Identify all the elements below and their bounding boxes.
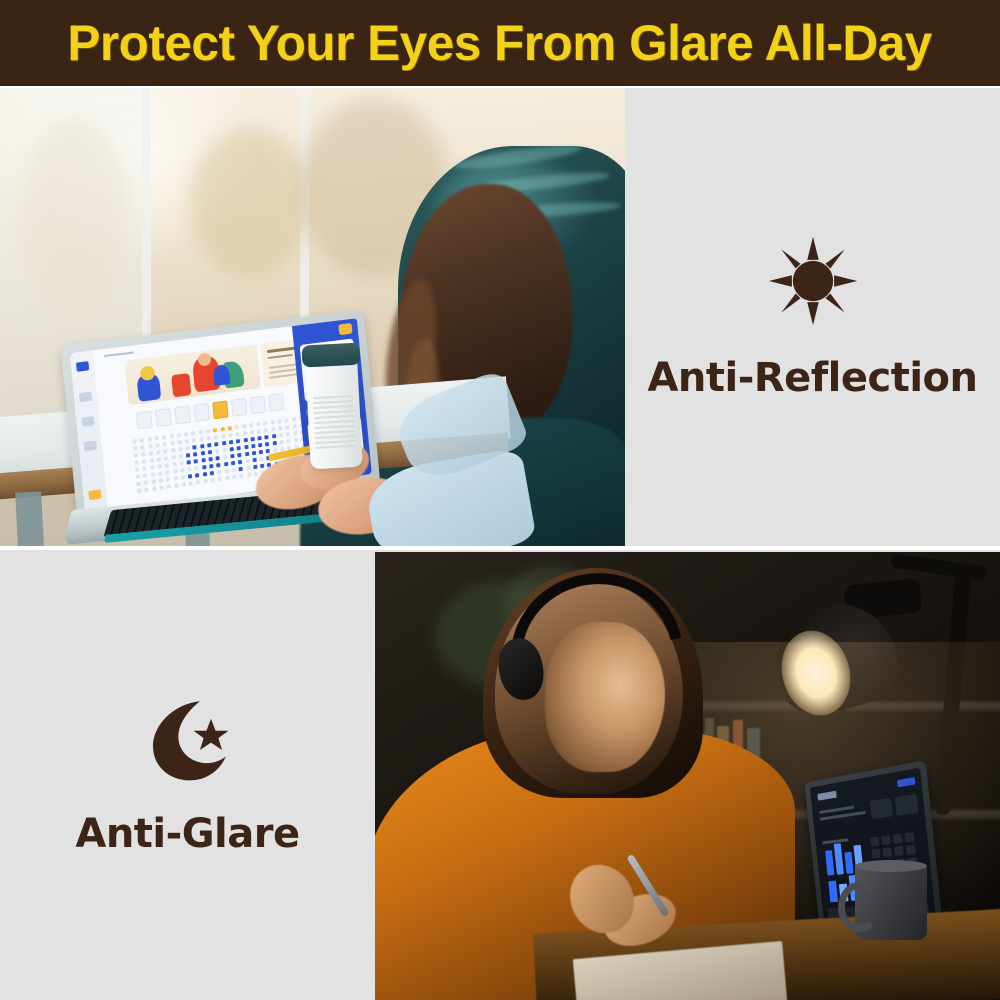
seat bbox=[245, 452, 249, 457]
blurred-foliage bbox=[20, 118, 130, 318]
showtime-chip bbox=[155, 408, 172, 427]
seat bbox=[214, 435, 218, 440]
seat bbox=[163, 449, 167, 454]
dashboard-stat bbox=[895, 794, 919, 816]
seat bbox=[242, 424, 246, 429]
seat bbox=[134, 460, 138, 465]
seat bbox=[192, 438, 196, 443]
seat bbox=[181, 482, 185, 487]
travel-tumbler bbox=[305, 359, 363, 470]
seat bbox=[207, 443, 211, 448]
seat bbox=[149, 458, 153, 463]
seat bbox=[150, 465, 154, 470]
sidebar-icon bbox=[84, 440, 97, 451]
seat bbox=[188, 474, 192, 479]
seat bbox=[142, 466, 146, 471]
seat bbox=[250, 437, 254, 442]
tumbler-texture bbox=[313, 393, 356, 449]
seat bbox=[185, 446, 189, 451]
seat bbox=[222, 441, 226, 446]
seat bbox=[180, 468, 184, 473]
seat bbox=[174, 483, 178, 488]
seat bbox=[157, 457, 161, 462]
hero-illustration bbox=[125, 344, 261, 405]
showtime-chip bbox=[250, 395, 266, 414]
seat bbox=[246, 466, 250, 471]
seat bbox=[209, 464, 213, 469]
seat bbox=[228, 433, 232, 438]
seat bbox=[231, 468, 235, 473]
seat bbox=[220, 427, 224, 432]
seat bbox=[213, 428, 217, 433]
grid-cell bbox=[883, 847, 893, 857]
anti-glare-row: Anti-Glare bbox=[0, 550, 1000, 1000]
seat bbox=[252, 458, 256, 463]
seat bbox=[287, 439, 291, 443]
header-banner: Protect Your Eyes From Glare All-Day bbox=[0, 0, 1000, 86]
seat bbox=[208, 457, 212, 462]
showtime-chip bbox=[136, 410, 153, 429]
seat bbox=[132, 439, 136, 444]
seat bbox=[201, 458, 205, 463]
seat bbox=[229, 447, 233, 452]
seat bbox=[200, 444, 204, 449]
seat bbox=[170, 441, 174, 446]
seat bbox=[254, 472, 258, 477]
seat bbox=[151, 472, 155, 477]
seat bbox=[227, 426, 231, 431]
anti-reflection-row: Anti-Reflection bbox=[0, 88, 1000, 546]
seat bbox=[279, 440, 283, 444]
anti-reflection-panel: Anti-Reflection bbox=[625, 88, 1000, 546]
seat bbox=[279, 433, 283, 437]
chart-bar bbox=[825, 850, 834, 876]
seat bbox=[232, 475, 236, 480]
seat bbox=[224, 462, 228, 467]
seat bbox=[237, 453, 241, 458]
seat bbox=[210, 478, 214, 483]
seat bbox=[216, 456, 220, 461]
seat bbox=[172, 462, 176, 467]
seat bbox=[164, 456, 168, 461]
seat bbox=[191, 431, 195, 436]
seat bbox=[271, 427, 275, 431]
seat bbox=[181, 475, 185, 480]
mug-handle bbox=[838, 882, 880, 932]
seat bbox=[245, 459, 249, 464]
sidebar-icon bbox=[76, 361, 89, 372]
seat bbox=[137, 489, 141, 494]
seat bbox=[166, 477, 170, 482]
anti-reflection-label: Anti-Reflection bbox=[647, 355, 977, 401]
seat bbox=[203, 479, 207, 484]
seat bbox=[243, 438, 247, 443]
chart-bar bbox=[844, 852, 853, 874]
seat bbox=[247, 473, 251, 478]
showtime-chip bbox=[268, 393, 284, 412]
seat bbox=[214, 442, 218, 447]
seat bbox=[144, 487, 148, 492]
seat bbox=[165, 470, 169, 475]
seat bbox=[189, 481, 193, 486]
banner-title: Protect Your Eyes From Glare All-Day bbox=[68, 18, 932, 68]
seat bbox=[236, 439, 240, 444]
seat bbox=[196, 480, 200, 485]
seat bbox=[256, 422, 260, 426]
seat bbox=[178, 447, 182, 452]
seat bbox=[140, 445, 144, 450]
showtime-chip bbox=[193, 403, 210, 422]
seat bbox=[223, 455, 227, 460]
seat bbox=[235, 425, 239, 430]
sun-icon bbox=[765, 233, 861, 329]
sidebar-icon bbox=[79, 392, 92, 403]
seat bbox=[136, 474, 140, 479]
showtime-chip-selected bbox=[212, 400, 228, 419]
seat bbox=[272, 434, 276, 438]
showtime-chip bbox=[231, 398, 247, 417]
seat bbox=[162, 435, 166, 440]
seat bbox=[216, 463, 220, 468]
blurred-foliage bbox=[190, 128, 310, 278]
seat bbox=[169, 434, 173, 439]
seat bbox=[263, 421, 267, 425]
seat bbox=[229, 440, 233, 445]
seat bbox=[264, 428, 268, 432]
seat bbox=[143, 473, 147, 478]
seat bbox=[259, 450, 263, 455]
card-title-line bbox=[268, 354, 293, 359]
seat bbox=[265, 442, 269, 447]
seat bbox=[140, 438, 144, 443]
seat bbox=[270, 420, 274, 424]
seat bbox=[136, 481, 140, 486]
seat bbox=[253, 465, 257, 470]
seat bbox=[156, 450, 160, 455]
seat bbox=[142, 459, 146, 464]
seat bbox=[199, 437, 203, 442]
dashboard-logo bbox=[817, 791, 836, 801]
seat bbox=[148, 451, 152, 456]
seat bbox=[231, 461, 235, 466]
seat bbox=[221, 434, 225, 439]
seat bbox=[239, 467, 243, 472]
seat bbox=[184, 432, 188, 437]
seat bbox=[225, 476, 229, 481]
seat bbox=[202, 465, 206, 470]
seat bbox=[294, 438, 298, 442]
seat bbox=[194, 459, 198, 464]
coffee-mug bbox=[855, 864, 927, 940]
dashboard-badge bbox=[897, 777, 916, 787]
seat bbox=[187, 467, 191, 472]
seat bbox=[185, 439, 189, 444]
dashboard-stat bbox=[870, 798, 893, 819]
seat bbox=[195, 473, 199, 478]
seat bbox=[235, 432, 239, 437]
seat bbox=[135, 467, 139, 472]
tumbler-lid bbox=[301, 343, 360, 368]
seat bbox=[206, 436, 210, 441]
seat bbox=[157, 464, 161, 469]
seat bbox=[258, 443, 262, 448]
seat bbox=[260, 464, 264, 469]
seat bbox=[163, 442, 167, 447]
grid-cell bbox=[893, 834, 903, 844]
seat bbox=[293, 431, 297, 435]
seat bbox=[210, 471, 214, 476]
sidebar-icon bbox=[88, 489, 101, 500]
night-photo bbox=[375, 552, 1000, 1000]
showtime-chip bbox=[174, 405, 191, 424]
seat bbox=[201, 451, 205, 456]
seat bbox=[195, 466, 199, 471]
seat bbox=[239, 474, 243, 479]
seat bbox=[187, 460, 191, 465]
product-feature-image: Protect Your Eyes From Glare All-Day bbox=[0, 0, 1000, 1000]
seat bbox=[244, 445, 248, 450]
daylight-photo bbox=[0, 88, 625, 546]
seat bbox=[134, 453, 138, 458]
seat bbox=[159, 485, 163, 490]
seat bbox=[237, 446, 241, 451]
seat bbox=[165, 463, 169, 468]
grid-cell bbox=[870, 837, 879, 847]
seat bbox=[159, 478, 163, 483]
seat bbox=[285, 425, 289, 429]
seat bbox=[265, 435, 269, 439]
seat bbox=[250, 430, 254, 435]
seat bbox=[285, 418, 289, 422]
seat bbox=[277, 419, 281, 423]
seat bbox=[179, 461, 183, 466]
sidebar-icon bbox=[81, 416, 94, 427]
seat bbox=[272, 441, 276, 445]
chart-bar bbox=[828, 881, 838, 903]
anti-glare-label: Anti-Glare bbox=[75, 811, 299, 857]
seat bbox=[266, 449, 270, 454]
seat bbox=[278, 426, 282, 430]
chart-bar bbox=[834, 843, 844, 875]
seat bbox=[257, 429, 261, 434]
grid-cell bbox=[871, 849, 880, 859]
seat bbox=[133, 446, 137, 451]
seat bbox=[259, 457, 263, 462]
seat bbox=[151, 479, 155, 484]
seat bbox=[224, 469, 228, 474]
seat bbox=[251, 444, 255, 449]
seat bbox=[141, 452, 145, 457]
mug-rim bbox=[855, 860, 927, 872]
seat bbox=[171, 448, 175, 453]
seat bbox=[177, 433, 181, 438]
seat bbox=[218, 477, 222, 482]
seat bbox=[144, 480, 148, 485]
seat bbox=[173, 476, 177, 481]
seat bbox=[155, 436, 159, 441]
grid-cell bbox=[906, 845, 916, 855]
seat bbox=[167, 484, 171, 489]
seat bbox=[158, 471, 162, 476]
moon-star-icon bbox=[142, 693, 234, 785]
seat bbox=[173, 469, 177, 474]
seat bbox=[193, 445, 197, 450]
seat bbox=[198, 430, 202, 435]
panel-badge bbox=[338, 323, 352, 335]
seat bbox=[206, 429, 210, 434]
seat bbox=[148, 444, 152, 449]
seat bbox=[171, 455, 175, 460]
grid-cell bbox=[881, 835, 891, 845]
seat bbox=[292, 417, 296, 421]
seat bbox=[193, 452, 197, 457]
seat bbox=[215, 449, 219, 454]
breadcrumb-line bbox=[103, 351, 134, 357]
seat bbox=[208, 450, 212, 455]
grid-cell bbox=[904, 832, 914, 842]
seat bbox=[238, 460, 242, 465]
seat bbox=[152, 486, 156, 491]
anti-glare-panel: Anti-Glare bbox=[0, 550, 375, 1000]
seat bbox=[222, 448, 226, 453]
seat bbox=[252, 451, 256, 456]
seat bbox=[177, 440, 181, 445]
illustration-popcorn bbox=[171, 373, 191, 397]
seat bbox=[203, 472, 207, 477]
seat bbox=[155, 443, 159, 448]
seat bbox=[243, 431, 247, 436]
seat bbox=[217, 470, 221, 475]
seat bbox=[186, 453, 190, 458]
seat bbox=[257, 436, 261, 441]
seat bbox=[292, 424, 296, 428]
seat bbox=[286, 432, 290, 436]
seat bbox=[249, 423, 253, 428]
seat bbox=[179, 454, 183, 459]
grid-cell bbox=[894, 846, 904, 856]
seat bbox=[230, 454, 234, 459]
seat bbox=[147, 437, 151, 442]
